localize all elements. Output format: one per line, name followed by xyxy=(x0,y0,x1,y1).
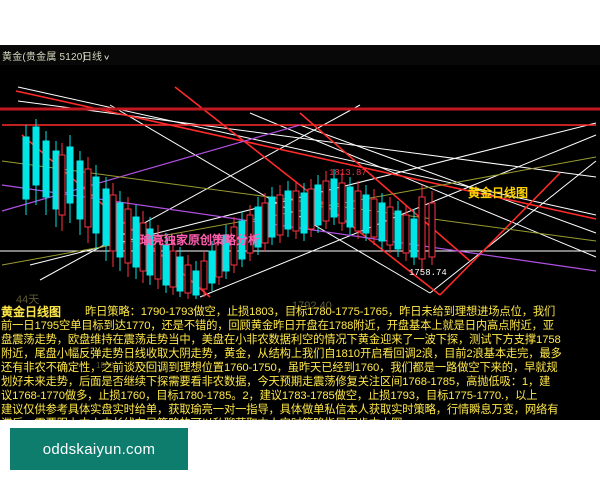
watermark-text: oddskaiyun.com xyxy=(43,441,156,458)
price-plot[interactable]: 1813.87 1758.74 瑜亮独家原创策略分析 黄金日线图 44天 xyxy=(0,65,600,300)
chart-toolbar: 黄金(贵金属 5120) 日线∨ xyxy=(0,45,600,65)
commentary-line: 前一日1795空单目标到达1770，还是不错的，回顾黄金昨日开盘在1788附近，… xyxy=(1,319,600,333)
symbol-label: 黄金(贵金属 5120) xyxy=(2,48,86,63)
annotation-gold-daily-chart: 黄金日线图 xyxy=(468,184,528,201)
period-selector[interactable]: 日线∨ xyxy=(82,48,110,63)
commentary-line: 还有非农不确定性，之前谈及回调到理想位置1760-1750，虽昨天已经到1760… xyxy=(1,361,600,375)
screenshot-root: 黄金(贵金属 5120) 日线∨ Delay xyxy=(0,0,600,480)
watermark-banner: oddskaiyun.com xyxy=(10,428,188,470)
commentary-line: 盘震荡走势，欧盘维持在震荡走势当中，美盘在小非农数据利空的情况下黄金迎来了一波下… xyxy=(1,333,600,347)
period-label: 日线 xyxy=(82,52,102,63)
commentary-line: 昨日策略：1790-1793做空，止损1803，目标1780-1775-1765… xyxy=(1,305,600,319)
commentary-line: 建议仅供参考具体实盘实时给单，获取瑜亮一对一指导，具体做单私信本人获取实时策略，… xyxy=(1,403,600,417)
commentary-line: 滞后，需要跟上本人中长线布局策略的可以私聊获取本人实时策略指导同步本人圈。 xyxy=(1,417,600,420)
commentary-line: 附近，尾盘小幅反弹走势日线收取大阴走势，黄金，从结构上我们自1810开启看回调2… xyxy=(1,347,600,361)
commentary-line: 划好未来走势，后面是否继续下探需要看非农数据，今天预期走震荡修复关注区间1768… xyxy=(1,375,600,389)
candlestick-svg xyxy=(0,65,600,300)
high-price-label: 1813.87 xyxy=(329,168,367,178)
chart-application: 黄金(贵金属 5120) 日线∨ Delay xyxy=(0,45,600,420)
commentary-line: 议1768-1770做多，止损1760，目标1780-1785。2，建议1783… xyxy=(1,389,600,403)
commentary-title: 黄金日线图 xyxy=(1,305,61,319)
commentary-block: 44天 1792.40 1808 1792 昨日策略：1790-1793做空，止… xyxy=(0,303,600,420)
low-price-label: 1758.74 xyxy=(409,268,447,278)
chevron-down-icon: ∨ xyxy=(103,54,110,62)
annotation-strategy-analysis: 瑜亮独家原创策略分析 xyxy=(140,231,260,248)
